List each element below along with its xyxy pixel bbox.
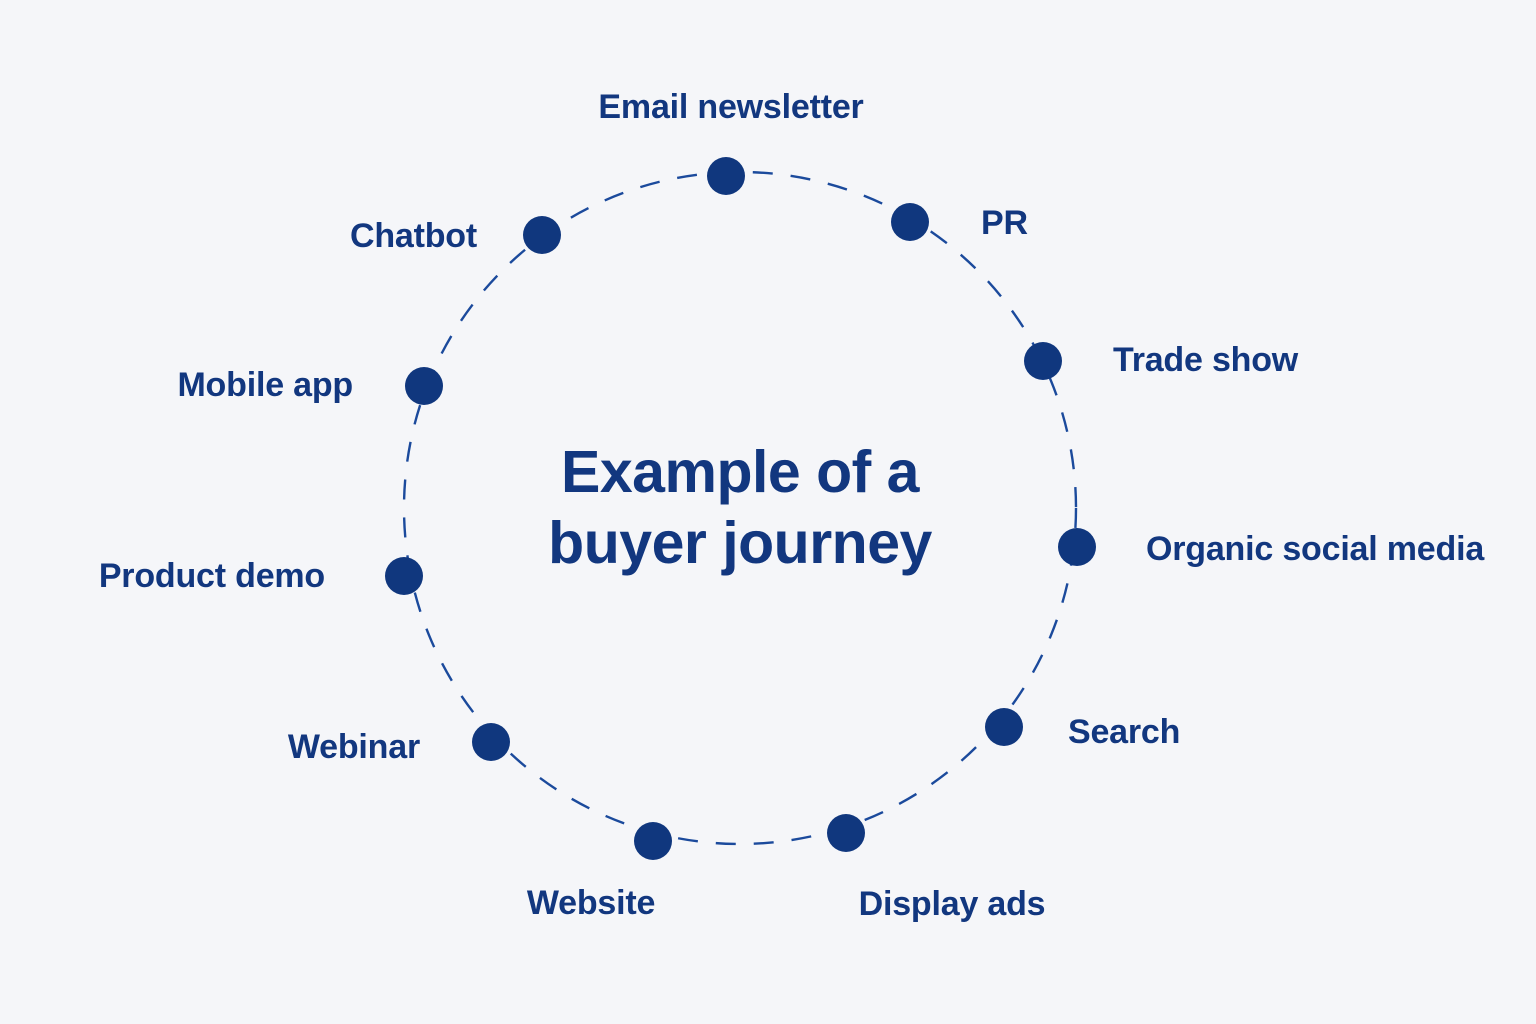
- journey-touchpoint-dot[interactable]: [472, 723, 510, 761]
- journey-touchpoint-dot[interactable]: [827, 814, 865, 852]
- touchpoint-label-chatbot: Chatbot: [350, 219, 477, 253]
- touchpoint-label-pr: PR: [981, 206, 1028, 240]
- touchpoint-label-webinar: Webinar: [288, 730, 420, 764]
- journey-touchpoint-dot[interactable]: [634, 822, 672, 860]
- touchpoint-label-website: Website: [527, 886, 655, 920]
- touchpoint-label-search: Search: [1068, 715, 1180, 749]
- touchpoint-label-email-newsletter: Email newsletter: [598, 90, 863, 124]
- center-title-line-2: buyer journey: [548, 508, 932, 579]
- journey-touchpoint-dot[interactable]: [405, 367, 443, 405]
- journey-touchpoint-dot[interactable]: [385, 557, 423, 595]
- touchpoint-label-product-demo: Product demo: [99, 559, 325, 593]
- journey-touchpoint-dot[interactable]: [1058, 528, 1096, 566]
- touchpoint-label-trade-show: Trade show: [1113, 343, 1298, 377]
- journey-touchpoint-dot[interactable]: [707, 157, 745, 195]
- touchpoint-label-organic-social-media: Organic social media: [1146, 532, 1484, 566]
- touchpoint-label-mobile-app: Mobile app: [177, 368, 353, 402]
- touchpoint-label-display-ads: Display ads: [859, 887, 1046, 921]
- buyer-journey-diagram: Example of a buyer journey Email newslet…: [0, 0, 1536, 1024]
- center-title-line-1: Example of a: [548, 437, 932, 508]
- journey-touchpoint-dot[interactable]: [891, 203, 929, 241]
- journey-touchpoint-dot[interactable]: [985, 708, 1023, 746]
- journey-touchpoint-dot[interactable]: [523, 216, 561, 254]
- center-title: Example of a buyer journey: [548, 437, 932, 579]
- journey-touchpoint-dot[interactable]: [1024, 342, 1062, 380]
